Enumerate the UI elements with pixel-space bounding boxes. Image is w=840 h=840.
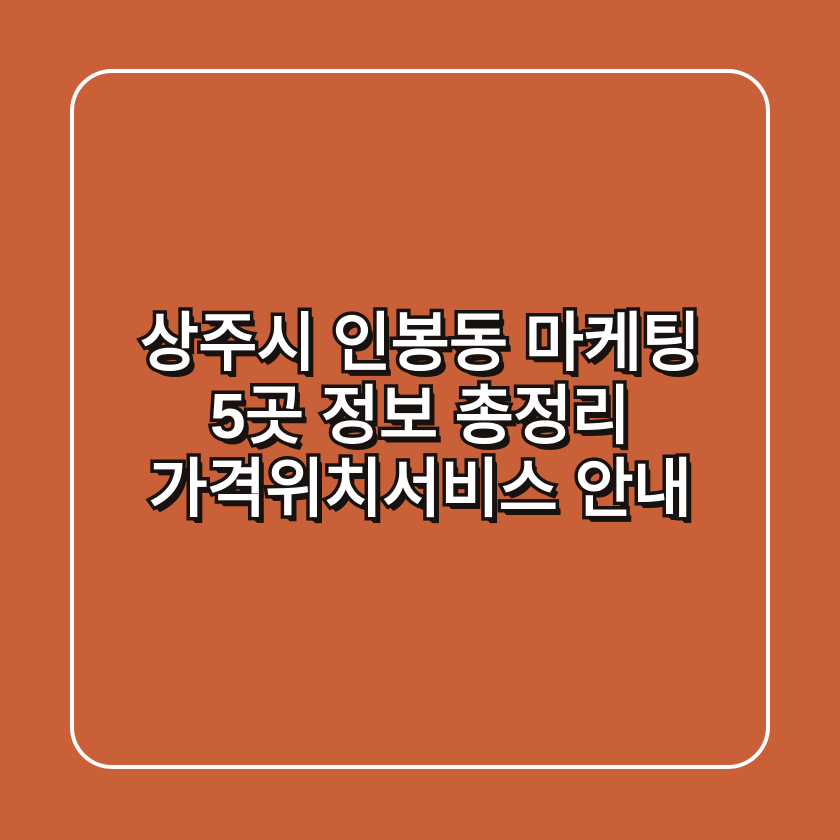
title-line-3: 가격위치서비스 안내 bbox=[70, 453, 770, 526]
page-title: 상주시 인봉동 마케팅 5곳 정보 총정리 가격위치서비스 안내 bbox=[70, 307, 770, 526]
title-line-2: 5곳 정보 총정리 bbox=[70, 380, 770, 453]
thumbnail-card: 상주시 인봉동 마케팅 5곳 정보 총정리 가격위치서비스 안내 bbox=[0, 0, 840, 840]
title-line-1: 상주시 인봉동 마케팅 bbox=[70, 307, 770, 380]
